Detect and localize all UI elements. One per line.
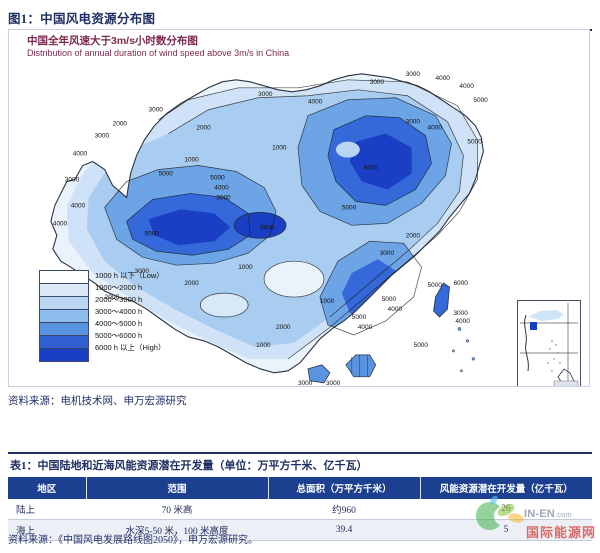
svg-text:1000: 1000 bbox=[238, 264, 253, 271]
svg-text:3000: 3000 bbox=[95, 133, 110, 140]
table-source: 资料来源：《中国风电发展路线图2050》，申万宏源研究。 bbox=[8, 531, 258, 546]
inset-highlight-zone bbox=[530, 322, 537, 330]
svg-text:5000: 5000 bbox=[382, 296, 397, 303]
legend-swatch bbox=[40, 310, 88, 323]
svg-text:4000: 4000 bbox=[358, 324, 373, 331]
svg-text:3000: 3000 bbox=[65, 176, 80, 183]
svg-text:3000: 3000 bbox=[216, 194, 231, 201]
svg-text:3000: 3000 bbox=[406, 71, 421, 78]
svg-text:5000: 5000 bbox=[467, 139, 482, 146]
legend-swatch bbox=[40, 297, 88, 310]
svg-text:4000: 4000 bbox=[436, 75, 451, 82]
figure-title: 图1：中国风电资源分布图 bbox=[8, 8, 592, 27]
legend-label: 1000 h 以下（Low） bbox=[95, 270, 165, 282]
svg-text:4000: 4000 bbox=[455, 318, 470, 325]
legend-label: 1000～2000 h bbox=[95, 282, 165, 294]
svg-text:4000: 4000 bbox=[428, 125, 443, 132]
legend-label: 5000～6000 h bbox=[95, 330, 165, 342]
svg-text:4000: 4000 bbox=[53, 220, 68, 227]
svg-text:1000: 1000 bbox=[320, 298, 335, 305]
svg-text:4000: 4000 bbox=[459, 83, 474, 90]
figure-source: 资料来源：电机技术网、申万宏源研究 bbox=[8, 393, 187, 408]
legend-swatch bbox=[40, 284, 88, 297]
map-heading-en: Distribution of annual duration of wind … bbox=[27, 48, 289, 59]
cell-range: 70 米高 bbox=[86, 499, 268, 520]
svg-text:1000: 1000 bbox=[272, 145, 287, 152]
table-row: 陆上 70 米高 约960 26 bbox=[8, 499, 592, 520]
svg-text:2000: 2000 bbox=[276, 324, 291, 331]
map-heading-cn: 中国全年风速大于3m/s小时数分布图 bbox=[27, 35, 289, 48]
svg-text:6000: 6000 bbox=[364, 165, 379, 172]
svg-text:1000: 1000 bbox=[256, 342, 271, 349]
legend-label: 2000～3000 h bbox=[95, 294, 165, 306]
svg-text:3000: 3000 bbox=[298, 380, 313, 387]
svg-text:2000: 2000 bbox=[184, 280, 199, 287]
table-title: 表1：中国陆地和近海风能资源潜在开发量（单位：万平方千米、亿千瓦） bbox=[10, 457, 368, 473]
legend-label-column: 1000 h 以下（Low） 1000～2000 h 2000～3000 h 3… bbox=[95, 270, 165, 354]
legend-swatch bbox=[40, 271, 88, 284]
svg-text:3000: 3000 bbox=[406, 119, 421, 126]
svg-text:2000: 2000 bbox=[196, 125, 211, 132]
svg-text:6000: 6000 bbox=[453, 280, 468, 287]
svg-text:4000: 4000 bbox=[73, 151, 88, 158]
cell-area: 约960 bbox=[268, 499, 420, 520]
inset-label-plate bbox=[554, 381, 578, 387]
legend-swatch bbox=[40, 349, 88, 361]
legend-swatch bbox=[40, 336, 88, 349]
svg-text:2000: 2000 bbox=[113, 121, 128, 128]
svg-text:5000: 5000 bbox=[428, 282, 443, 289]
svg-text:4000: 4000 bbox=[388, 306, 403, 313]
svg-text:5000: 5000 bbox=[352, 314, 367, 321]
svg-text:3000: 3000 bbox=[370, 79, 385, 86]
svg-text:3000: 3000 bbox=[380, 250, 395, 257]
svg-text:5000: 5000 bbox=[210, 174, 225, 181]
svg-text:1000: 1000 bbox=[184, 157, 199, 164]
cell-area: 39.4 bbox=[268, 520, 420, 541]
cell-potential: 26 bbox=[420, 499, 592, 520]
svg-text:3000: 3000 bbox=[326, 380, 341, 387]
column-header-region: 地区 bbox=[8, 477, 86, 499]
svg-text:3000: 3000 bbox=[453, 310, 468, 317]
svg-text:5000: 5000 bbox=[414, 342, 429, 349]
map-heading: 中国全年风速大于3m/s小时数分布图 Distribution of annua… bbox=[27, 35, 289, 59]
svg-text:5000: 5000 bbox=[342, 204, 357, 211]
inset-map-graphic bbox=[518, 301, 580, 387]
svg-text:3000: 3000 bbox=[258, 91, 273, 98]
svg-text:4000: 4000 bbox=[214, 184, 229, 191]
legend-label: 4000～5000 h bbox=[95, 318, 165, 330]
column-header-potential: 风能资源潜在开发量（亿千瓦） bbox=[420, 477, 592, 499]
table-header-row: 地区 范围 总面积（万平方千米） 风能资源潜在开发量（亿千瓦） bbox=[8, 477, 592, 499]
legend-swatch bbox=[40, 323, 88, 336]
map-legend: 1000 h 以下（Low） 1000～2000 h 2000～3000 h 3… bbox=[39, 270, 165, 362]
svg-text:5000: 5000 bbox=[145, 230, 160, 237]
low-zone-north bbox=[336, 142, 360, 158]
legend-label: 3000～4000 h bbox=[95, 306, 165, 318]
south-sea-islets bbox=[452, 327, 475, 372]
column-header-range: 范围 bbox=[86, 477, 268, 499]
table-title-divider bbox=[8, 452, 592, 454]
svg-text:3000: 3000 bbox=[149, 107, 164, 114]
legend-swatch-column bbox=[39, 270, 89, 362]
column-header-area: 总面积（万平方千米） bbox=[268, 477, 420, 499]
svg-text:2000: 2000 bbox=[406, 232, 421, 239]
svg-text:6000: 6000 bbox=[260, 224, 275, 231]
cell-potential: 5 bbox=[420, 520, 592, 541]
svg-text:5000: 5000 bbox=[473, 97, 488, 104]
figure-title-block: 图1：中国风电资源分布图 bbox=[8, 8, 592, 31]
legend-label: 6000 h 以上（High） bbox=[95, 342, 165, 354]
svg-text:4000: 4000 bbox=[71, 202, 86, 209]
map-scale-sample bbox=[346, 355, 376, 377]
figure-frame: 3000 2000 3000 4000 3000 3000 4000 4000 … bbox=[8, 29, 590, 387]
svg-text:4000: 4000 bbox=[308, 99, 323, 106]
svg-text:5000: 5000 bbox=[158, 170, 173, 177]
south-china-sea-inset bbox=[517, 300, 581, 387]
cell-region: 陆上 bbox=[8, 499, 86, 520]
